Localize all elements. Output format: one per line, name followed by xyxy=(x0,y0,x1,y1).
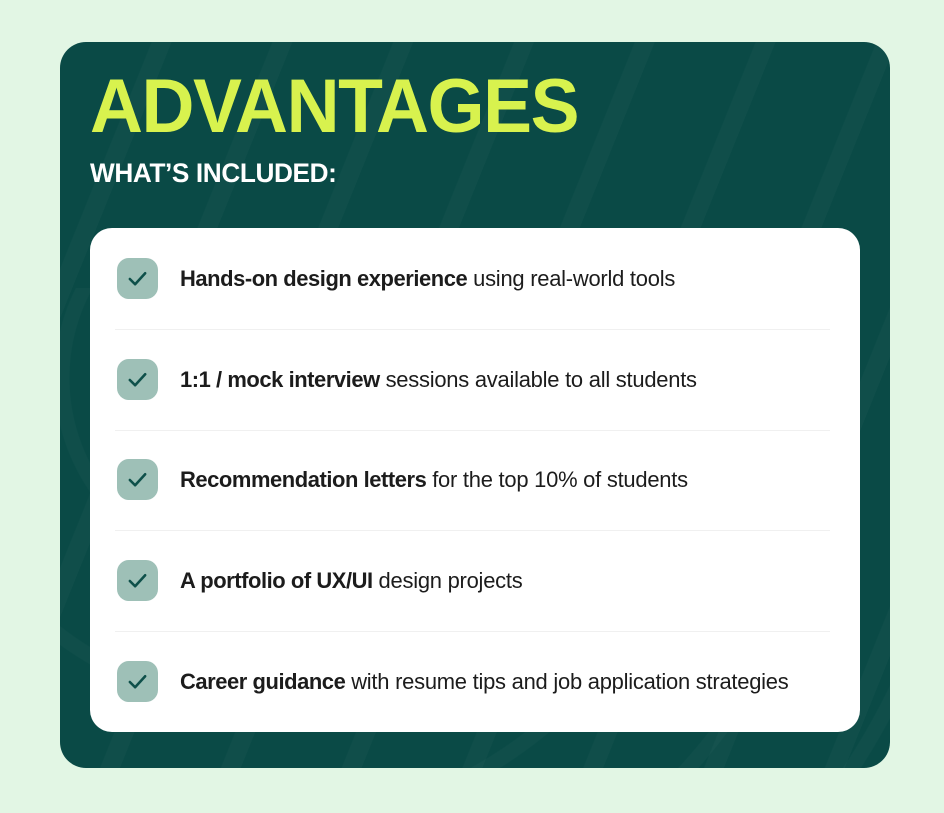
list-item: Recommendation letters for the top 10% o… xyxy=(115,430,835,531)
list-item-text: Hands-on design experience using real-wo… xyxy=(180,263,675,294)
included-list-card: Hands-on design experience using real-wo… xyxy=(90,228,860,732)
list-item-text: 1:1 / mock interview sessions available … xyxy=(180,364,697,395)
list-item-strong: 1:1 / mock interview xyxy=(180,367,380,392)
page-title: ADVANTAGES xyxy=(90,70,823,144)
list-item-strong: A portfolio of UX/UI xyxy=(180,568,373,593)
list-item-text: Career guidance with resume tips and job… xyxy=(180,666,788,697)
list-item-rest: with resume tips and job application str… xyxy=(345,669,788,694)
list-item-strong: Hands-on design experience xyxy=(180,266,467,291)
list-item-strong: Recommendation letters xyxy=(180,467,426,492)
list-item: 1:1 / mock interview sessions available … xyxy=(115,329,835,430)
list-item-rest: using real-world tools xyxy=(467,266,675,291)
check-icon xyxy=(117,560,158,601)
list-item-rest: design projects xyxy=(373,568,523,593)
included-list: Hands-on design experience using real-wo… xyxy=(115,228,835,732)
list-item-rest: for the top 10% of students xyxy=(426,467,687,492)
check-icon xyxy=(117,661,158,702)
advantages-card: ADVANTAGES WHAT’S INCLUDED: Hands-on des… xyxy=(60,42,890,768)
check-icon xyxy=(117,258,158,299)
page-root: ADVANTAGES WHAT’S INCLUDED: Hands-on des… xyxy=(0,0,944,813)
section-subtitle: WHAT’S INCLUDED: xyxy=(90,158,827,188)
list-item: Hands-on design experience using real-wo… xyxy=(115,228,835,329)
card-header: ADVANTAGES WHAT’S INCLUDED: xyxy=(90,70,850,188)
list-item-rest: sessions available to all students xyxy=(380,367,697,392)
list-item-text: Recommendation letters for the top 10% o… xyxy=(180,464,688,495)
check-icon xyxy=(117,359,158,400)
list-item: Career guidance with resume tips and job… xyxy=(115,631,835,732)
list-item-strong: Career guidance xyxy=(180,669,345,694)
check-icon xyxy=(117,459,158,500)
list-item: A portfolio of UX/UI design projects xyxy=(115,530,835,631)
list-item-text: A portfolio of UX/UI design projects xyxy=(180,565,522,596)
